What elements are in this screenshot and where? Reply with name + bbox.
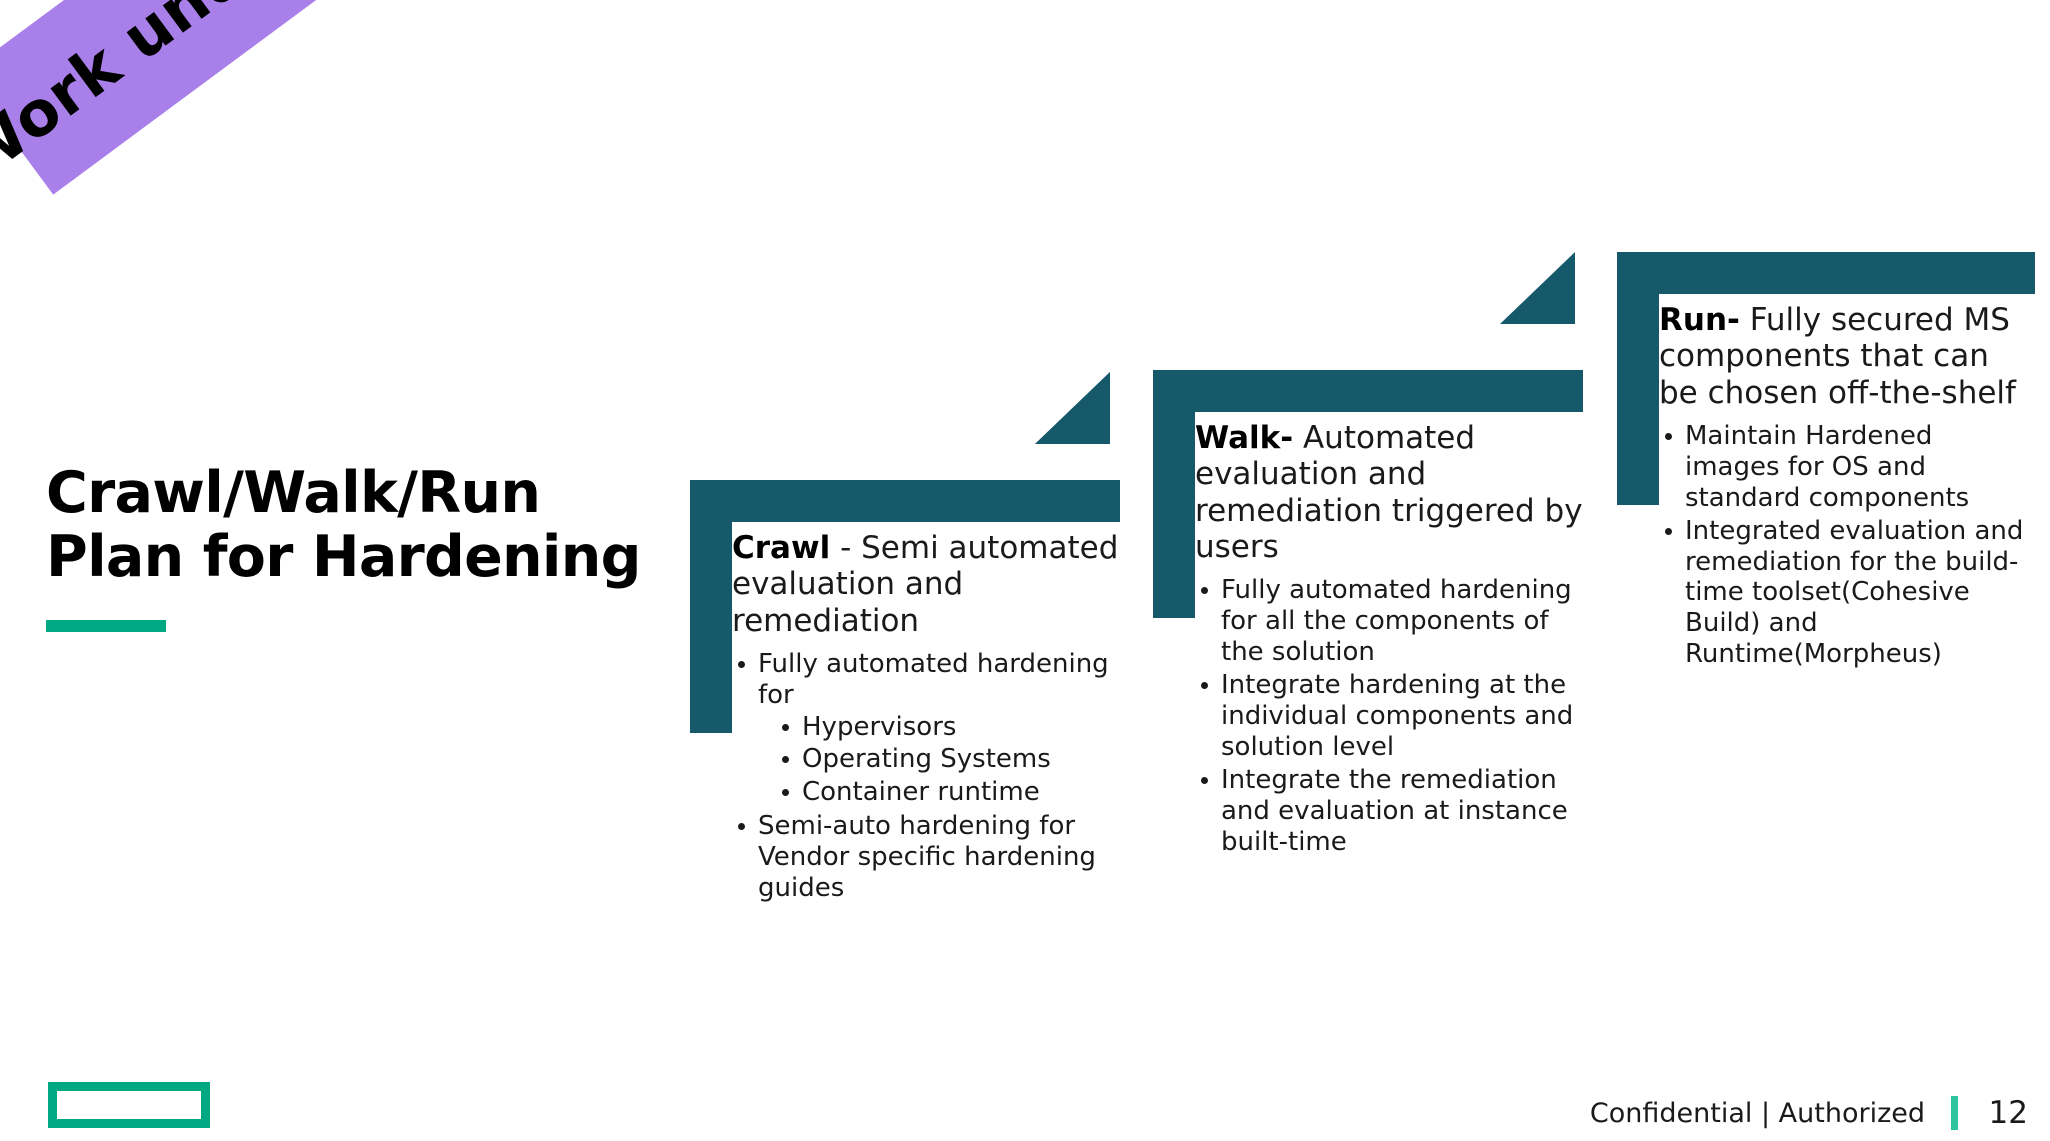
bullet-dot-icon: [1201, 682, 1208, 689]
card-heading-lead: Crawl: [732, 530, 830, 566]
card-frame-top: [1617, 252, 2035, 294]
bullet-dot-icon: [1201, 777, 1208, 784]
bullet-dot-icon: [738, 661, 745, 668]
card-heading-lead: Walk-: [1195, 420, 1293, 456]
card-body-run: Run- Fully secured MS components that ca…: [1659, 294, 2035, 672]
card-heading-lead: Run-: [1659, 302, 1740, 338]
list-item: Integrate hardening at the individual co…: [1195, 670, 1583, 763]
sub-bullet-list: Hypervisors Operating Systems Container …: [758, 712, 1120, 809]
list-item: Integrate the remediation and evaluation…: [1195, 765, 1583, 858]
card-heading-crawl: Crawl - Semi automated evaluation and re…: [732, 522, 1120, 643]
list-item-text: Fully automated hardening for all the co…: [1221, 575, 1572, 667]
bullet-dot-icon: [1201, 587, 1208, 594]
work-under-progress-label: Work under Progress: [0, 0, 588, 196]
footer: Confidential | Authorized 12: [1590, 1095, 2028, 1131]
footer-separator: [1951, 1096, 1958, 1130]
list-item-text: Integrated evaluation and remediation fo…: [1685, 516, 2023, 670]
triangle-accent-run-icon: [1500, 252, 1575, 324]
list-item: Fully automated hardening for Hypervisor…: [732, 649, 1120, 809]
list-item-text: Integrate hardening at the individual co…: [1221, 670, 1573, 762]
title-accent-bar: [46, 620, 166, 632]
bullet-list-run: Maintain Hardened images for OS and stan…: [1659, 421, 2035, 671]
bullet-list-walk: Fully automated hardening for all the co…: [1195, 575, 1583, 857]
bullet-dot-icon: [1665, 433, 1672, 440]
list-item-text: Fully automated hardening for: [758, 649, 1109, 710]
card-body-walk: Walk- Automated evaluation and remediati…: [1195, 412, 1583, 860]
card-heading-run: Run- Fully secured MS components that ca…: [1659, 294, 2035, 415]
hpe-logo-icon: [48, 1082, 210, 1128]
card-body-crawl: Crawl - Semi automated evaluation and re…: [732, 522, 1120, 906]
card-frame-left: [690, 480, 732, 733]
list-item-text: Container runtime: [802, 777, 1040, 807]
page-number: 12: [1984, 1095, 2028, 1131]
bullet-dot-icon: [782, 789, 789, 796]
list-item: Integrated evaluation and remediation fo…: [1659, 516, 2035, 671]
list-item: Container runtime: [776, 777, 1120, 809]
list-item-text: Semi-auto hardening for Vendor specific …: [758, 811, 1096, 903]
card-frame-left: [1617, 252, 1659, 505]
card-heading-walk: Walk- Automated evaluation and remediati…: [1195, 412, 1583, 569]
bullet-dot-icon: [1665, 528, 1672, 535]
list-item: Fully automated hardening for all the co…: [1195, 575, 1583, 668]
card-frame-top: [1153, 370, 1583, 412]
bullet-dot-icon: [738, 823, 745, 830]
list-item: Semi-auto hardening for Vendor specific …: [732, 811, 1120, 904]
card-frame-left: [1153, 370, 1195, 618]
slide-canvas: Work under Progress Crawl/Walk/Run Plan …: [0, 0, 2050, 1141]
list-item-text: Operating Systems: [802, 744, 1051, 774]
bullet-dot-icon: [782, 756, 789, 763]
bullet-list-crawl: Fully automated hardening for Hypervisor…: [732, 649, 1120, 904]
page-title: Crawl/Walk/Run Plan for Hardening: [46, 462, 646, 590]
list-item-text: Maintain Hardened images for OS and stan…: [1685, 421, 1969, 513]
work-under-progress-banner: Work under Progress: [0, 0, 568, 195]
triangle-accent-walk-icon: [1035, 372, 1110, 444]
list-item: Hypervisors: [776, 712, 1120, 744]
card-frame-top: [690, 480, 1120, 522]
title-block: Crawl/Walk/Run Plan for Hardening: [46, 462, 646, 632]
bullet-dot-icon: [782, 724, 789, 731]
list-item-text: Integrate the remediation and evaluation…: [1221, 765, 1568, 857]
list-item-text: Hypervisors: [802, 712, 956, 742]
list-item: Operating Systems: [776, 744, 1120, 776]
confidentiality-label: Confidential | Authorized: [1590, 1098, 1925, 1129]
list-item: Maintain Hardened images for OS and stan…: [1659, 421, 2035, 514]
